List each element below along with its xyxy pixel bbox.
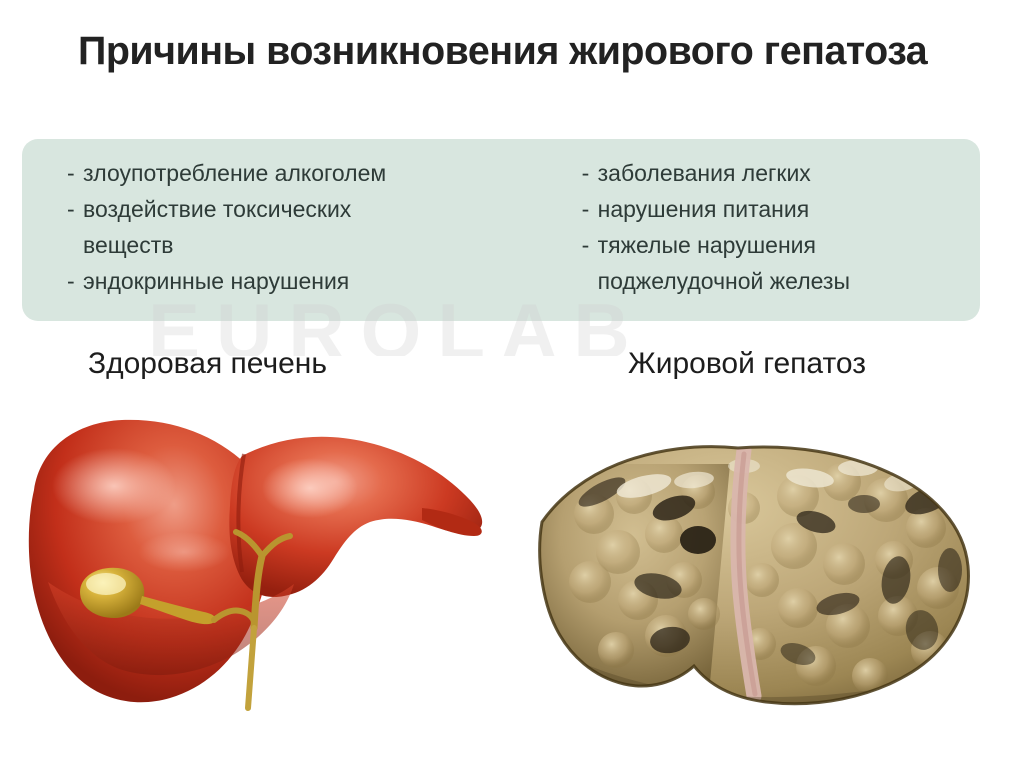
fatty-liver-caption: Жировой гепатоз [628, 347, 866, 381]
bullet-dash: - [582, 228, 598, 262]
bullet-dash: - [582, 156, 598, 190]
list-item-label: эндокринные нарушения [83, 264, 349, 298]
list-item-label: воздействие токсических [83, 192, 351, 226]
page-title: Причины возникновения жирового гепатоза [78, 29, 945, 74]
healthy-liver-svg [18, 412, 498, 722]
gallbladder-highlight [86, 573, 126, 595]
list-item-label: заболевания легких [598, 156, 811, 190]
causes-column-right: - заболевания легких - нарушения питания… [582, 139, 980, 321]
causes-columns: - злоупотребление алкоголем - воздействи… [22, 139, 980, 321]
list-item-label: нарушения питания [598, 192, 810, 226]
list-item-label: веществ [83, 228, 173, 262]
causes-panel: - злоупотребление алкоголем - воздействи… [22, 139, 980, 321]
list-item: - заболевания легких [582, 156, 980, 190]
list-item: - нарушения питания [582, 192, 980, 226]
liver-highlight [262, 458, 358, 518]
list-item: - злоупотребление алкоголем [67, 156, 582, 190]
fatty-liver-body [498, 404, 998, 724]
list-item-label: злоупотребление алкоголем [83, 156, 386, 190]
list-item-label: поджелудочной железы [598, 264, 850, 298]
list-item-continuation: веществ [67, 228, 582, 262]
causes-column-left: - злоупотребление алкоголем - воздействи… [22, 139, 582, 321]
healthy-liver-caption: Здоровая печень [88, 347, 327, 381]
bullet-dash: - [67, 156, 83, 190]
fatty-liver-svg [498, 404, 998, 724]
list-item-continuation: поджелудочной железы [582, 264, 980, 298]
liver-highlight [52, 448, 176, 524]
fatty-liver-illustration [498, 404, 998, 724]
list-item: - воздействие токсических [67, 192, 582, 226]
bullet-dash: - [67, 264, 83, 298]
list-item-label: тяжелые нарушения [598, 228, 816, 262]
bullet-dash: - [67, 192, 83, 226]
liver-highlight [138, 532, 230, 572]
healthy-liver-illustration [18, 412, 498, 722]
bullet-dash: - [582, 192, 598, 226]
list-item: - тяжелые нарушения [582, 228, 980, 262]
list-item: - эндокринные нарушения [67, 264, 582, 298]
